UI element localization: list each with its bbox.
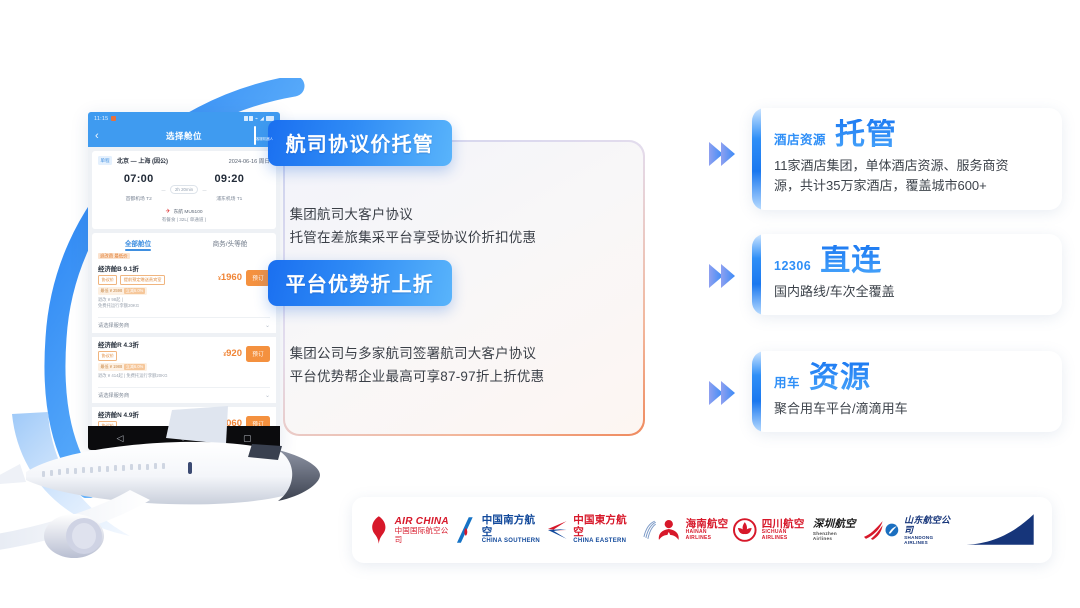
meal-info: 有餐食 | 32L( 单通道 ) (98, 217, 270, 223)
logo-china-eastern: 中国東方航空 CHINA EASTERN (545, 515, 657, 545)
hainan-peng-bird-icon (657, 517, 681, 543)
china-eastern-swallow-icon (545, 518, 569, 542)
shandong-crane-icon (885, 523, 899, 537)
phone-mockup: 11:15 ⌁ ◢ ‹ 选择舱位 客服机器人 单程 北京 — 上海 (因公) (88, 112, 280, 450)
page-title: 选择舱位 (88, 130, 280, 142)
double-chevron-right-icon (707, 262, 741, 290)
flight-list: 退改费 最低价 经济舱B 9.1折 协议价 提前预定赠送贵宾室 最低 ¥ 259… (92, 252, 276, 427)
logo-hainan-airlines: 海南航空 HAINAN AIRLINES (657, 517, 733, 543)
depart-time: 07:00 (124, 173, 154, 185)
badge-lowest-price: 最低 ¥ 2598立减6.0% (98, 287, 147, 295)
card-title: 资源 (809, 362, 871, 394)
feature-pill-airline-agreement: 航司协议价托管 (268, 120, 452, 166)
logo-cn: 中国南方航空 (482, 515, 545, 539)
logo-cn: 中国国际航空公司 (395, 527, 456, 544)
book-button[interactable]: 预订 (246, 416, 270, 426)
slide-canvas: 11:15 ⌁ ◢ ‹ 选择舱位 客服机器人 单程 北京 — 上海 (因公) (0, 0, 1080, 608)
card-accent-stripe (752, 108, 761, 210)
logo-cn: 山东航空公司 (904, 515, 958, 535)
notification-icon (111, 116, 116, 121)
price: ¥1060 (218, 418, 242, 426)
card-subtitle: 酒店资源 (774, 129, 826, 148)
badge-agreement-price: 协议价 (98, 275, 117, 285)
service-provider-picker[interactable]: 请选择服务商 ⌄ (92, 388, 276, 403)
logo-en: CHINA EASTERN (573, 538, 636, 545)
status-indicators: ⌁ ◢ (244, 116, 274, 122)
airline-flight-no: 东航 MU5100 (173, 208, 202, 215)
depart-airport: 首都机场 T2 (126, 197, 152, 202)
trip-date: 2024-06-16 周日 (229, 157, 270, 165)
feature-desc-platform-discount: 集团公司与多家航司签署航司大客户协议 平台优势帮企业最高可享87-97折上折优惠 (290, 342, 545, 389)
badge-promo: 提前预定赠送贵宾室 (120, 275, 164, 285)
resource-card-train[interactable]: 12306 直连 国内路线/车次全覆盖 (752, 234, 1062, 315)
airline-partner-logo-bar: AIR CHINA 中国国际航空公司 中国南方航空 CHINA SOUTHERN… (352, 497, 1052, 563)
flight-row[interactable]: 经济舱B 9.1折 协议价 提前预定赠送贵宾室 最低 ¥ 2598立减6.0% … (92, 261, 276, 314)
card-description: 聚合用车平台/滴滴用车 (774, 399, 1046, 420)
refund-info: 退改 ¥ 98起 | 免费托运行李额20KG (98, 297, 270, 309)
phone-nav-bar: ‹ 选择舱位 客服机器人 (88, 125, 280, 147)
refund-info: 退改 ¥ 414起 | 免费托运行李额20KG (98, 373, 270, 379)
card-accent-stripe (752, 234, 761, 315)
cabin-tabs: 全部舱位 商务/头等舱 (92, 233, 276, 252)
logo-en: SICHUAN AIRLINES (762, 530, 813, 541)
logo-shenzhen-airlines: 深圳航空 Shenzhen Airlines (813, 519, 886, 541)
card-description: 国内路线/车次全覆盖 (774, 282, 1046, 303)
book-button[interactable]: 预订 (246, 270, 270, 286)
phone-content: 单程 北京 — 上海 (因公) 2024-06-16 周日 07:00 首都机场… (88, 147, 280, 426)
logo-cn: 中国東方航空 (573, 515, 636, 539)
cabin-name: 经济舱B 9.1折 (98, 264, 270, 273)
status-time: 11:15 (94, 116, 108, 122)
air-china-phoenix-icon (368, 515, 390, 545)
card-subtitle: 用车 (774, 372, 800, 391)
cabin-name: 经济舱N 4.9折 (98, 410, 270, 419)
price: ¥1960 (218, 272, 242, 283)
trip-summary-card: 单程 北京 — 上海 (因公) 2024-06-16 周日 07:00 首都机场… (92, 151, 276, 229)
customer-service-button[interactable]: 客服机器人 (254, 127, 273, 145)
china-southern-tail-icon (455, 515, 477, 545)
trip-type-badge: 单程 (98, 156, 112, 165)
skyteam-icon (641, 519, 657, 541)
cabin-name: 经济舱R 4.3折 (98, 340, 270, 349)
badge-lowest-price: 最低 ¥ 1988立减6.0% (98, 363, 147, 371)
card-accent-stripe (752, 351, 761, 432)
logo-china-southern: 中国南方航空 CHINA SOUTHERN (455, 515, 545, 545)
card-title: 托管 (835, 119, 897, 151)
phone-status-bar: 11:15 ⌁ ◢ (88, 112, 280, 125)
service-provider-picker[interactable]: 请选择服务商 ⌄ (92, 318, 276, 333)
sichuan-hibiscus-icon (733, 517, 757, 543)
phone-system-nav: ◁ ○ ▢ (88, 426, 280, 450)
chevron-down-icon: ⌄ (265, 392, 270, 399)
arrive-time: 09:20 (214, 173, 244, 185)
flight-duration: — 2h 20min — (162, 178, 207, 196)
flight-row[interactable]: 经济舱N 4.9折 协议价 最低 ¥ 1158立减6.0% 退改 ¥ 265起 … (92, 407, 276, 426)
double-chevron-right-icon (707, 379, 741, 407)
badge-agreement-price: 协议价 (98, 351, 117, 361)
recents-square-icon[interactable]: ▢ (243, 433, 252, 444)
logo-en: Shenzhen Airlines (813, 531, 857, 541)
logo-en: CHINA SOUTHERN (482, 538, 545, 545)
resource-card-hotel[interactable]: 酒店资源 托管 11家酒店集团，单体酒店资源、服务商资 源，共计35万家酒店，覆… (752, 108, 1062, 210)
tab-business-first[interactable]: 商务/头等舱 (184, 233, 276, 252)
airline-logo-icon: ✈ (165, 209, 170, 215)
logo-sichuan-airlines: 四川航空 SICHUAN AIRLINES (733, 517, 813, 543)
feature-desc-airline-agreement: 集团航司大客户协议 托管在差旅集采平台享受协议价折扣优惠 (290, 203, 537, 250)
logo-air-china: AIR CHINA 中国国际航空公司 (368, 515, 455, 545)
resource-card-car[interactable]: 用车 资源 聚合用车平台/滴滴用车 (752, 351, 1062, 432)
card-title: 直连 (820, 245, 882, 277)
trip-route: 北京 — 上海 (因公) (117, 156, 168, 165)
feature-pill-platform-discount: 平台优势折上折 (268, 260, 452, 306)
logo-en: SHANDONG AIRLINES (904, 535, 958, 545)
book-button[interactable]: 预订 (246, 346, 270, 362)
price: ¥920 (223, 348, 242, 359)
chevron-down-icon: ⌄ (265, 322, 270, 329)
back-triangle-icon[interactable]: ◁ (117, 433, 124, 444)
middle-feature-panel: 航司协议价托管 集团航司大客户协议 托管在差旅集采平台享受协议价折扣优惠 平台优… (283, 140, 645, 436)
home-circle-icon[interactable]: ○ (180, 433, 185, 443)
double-chevron-right-icon (707, 140, 741, 168)
logo-cn: 深圳航空 (813, 519, 857, 531)
list-hint: 退改费 最低价 (92, 252, 276, 261)
logo-shandong-airlines: 山东航空公司 SHANDONG AIRLINES (885, 513, 1036, 547)
flight-row[interactable]: 经济舱R 4.3折 协议价 最低 ¥ 1988立减6.0% 退改 ¥ 414起 … (92, 337, 276, 384)
shenzhen-kunpeng-icon (862, 519, 886, 541)
arrive-airport: 浦东机场 T1 (216, 197, 242, 202)
service-label: 客服机器人 (256, 137, 273, 141)
logo-en: HAINAN AIRLINES (686, 530, 734, 541)
card-description: 11家酒店集团，单体酒店资源、服务商资 源，共计35万家酒店，覆盖城市600+ (774, 156, 1046, 198)
service-robot-icon (254, 126, 256, 145)
airline-flight-row: ✈ 东航 MU5100 (98, 208, 270, 215)
shandong-wave-icon (963, 513, 1036, 547)
card-subtitle: 12306 (774, 259, 811, 273)
tab-all-cabins[interactable]: 全部舱位 (92, 233, 184, 252)
